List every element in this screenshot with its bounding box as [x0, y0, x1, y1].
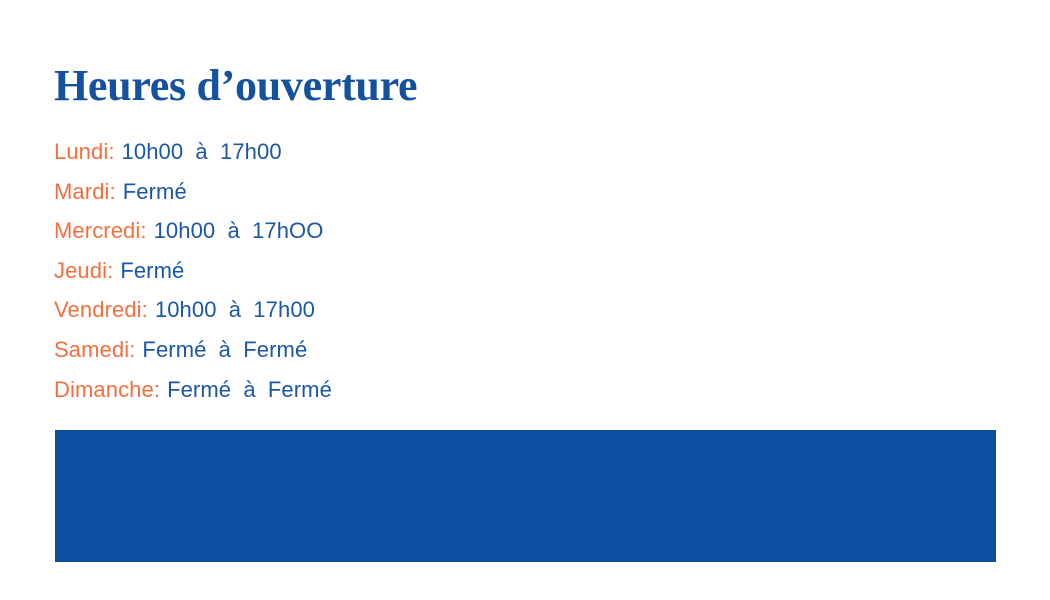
day-label-dimanche: Dimanche:: [54, 377, 160, 402]
slide-canvas: Heures d’ouverture Lundi:10h00 à 17h00 M…: [0, 0, 1050, 600]
day-label-mercredi: Mercredi:: [54, 218, 147, 243]
hours-row: Mardi:Fermé: [54, 172, 934, 212]
day-value-mardi: Fermé: [123, 179, 187, 204]
day-label-mardi: Mardi:: [54, 179, 116, 204]
day-label-vendredi: Vendredi:: [54, 297, 148, 322]
hours-row: Lundi:10h00 à 17h00: [54, 132, 934, 172]
day-value-lundi: 10h00 à 17h00: [122, 139, 282, 164]
hours-row: Jeudi:Fermé: [54, 251, 934, 291]
hours-row: Mercredi:10h00 à 17hOO: [54, 211, 934, 251]
day-value-samedi: Fermé à Fermé: [142, 337, 307, 362]
day-value-jeudi: Fermé: [120, 258, 184, 283]
day-value-vendredi: 10h00 à 17h00: [155, 297, 315, 322]
hours-row: Samedi:Fermé à Fermé: [54, 330, 934, 370]
page-title: Heures d’ouverture: [54, 60, 417, 112]
hours-row: Dimanche:Fermé à Fermé: [54, 370, 934, 410]
day-label-samedi: Samedi:: [54, 337, 135, 362]
blue-banner-bar: [55, 430, 996, 562]
day-value-dimanche: Fermé à Fermé: [167, 377, 332, 402]
day-label-jeudi: Jeudi:: [54, 258, 113, 283]
day-label-lundi: Lundi:: [54, 139, 115, 164]
hours-row: Vendredi:10h00 à 17h00: [54, 290, 934, 330]
opening-hours-list: Lundi:10h00 à 17h00 Mardi:Fermé Mercredi…: [54, 132, 934, 409]
day-value-mercredi: 10h00 à 17hOO: [154, 218, 324, 243]
